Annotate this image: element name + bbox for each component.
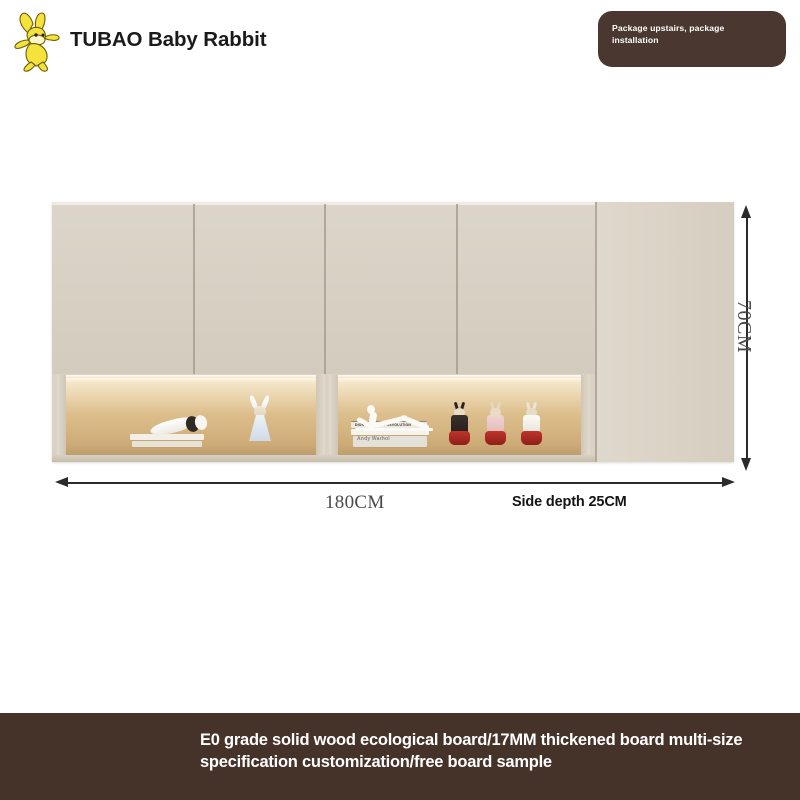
bunny-base	[485, 431, 506, 445]
bunny-base	[521, 431, 542, 445]
book-item: Andy Warhol	[353, 436, 427, 447]
led-strip-icon	[333, 375, 586, 382]
cabinet-door-2	[193, 202, 324, 374]
door-seam-1	[193, 204, 195, 374]
niche-left-wall	[329, 375, 338, 455]
led-strip-icon	[61, 375, 321, 382]
cabinet-door-3	[324, 202, 456, 374]
depth-dimension-label: Side depth 25CM	[512, 494, 627, 510]
width-arrow-right	[722, 477, 735, 487]
cabinet-side-panel	[595, 202, 734, 462]
modern-art-object	[150, 413, 216, 435]
width-dimension-label: 180CM	[325, 492, 385, 514]
width-dimension-line	[66, 482, 724, 484]
open-shelf-niche-right: DIOR NEW LOOK REVOLUTION Andy Warhol	[329, 375, 590, 455]
niche-right-wall	[316, 375, 325, 455]
book-title: Andy Warhol	[357, 437, 390, 442]
bunny-dress	[249, 415, 271, 441]
reclining-sculpture	[353, 405, 435, 433]
cabinet-body: DIOR NEW LOOK REVOLUTION Andy Warhol	[52, 202, 734, 462]
cabinet-door-4	[456, 202, 595, 374]
height-arrow-bottom	[741, 458, 751, 471]
bunny-girl-figurine	[249, 395, 271, 441]
niche-left-wall	[57, 375, 66, 455]
door-seam-2	[324, 204, 326, 374]
niche-right-wall	[581, 375, 590, 455]
bunny-base	[449, 431, 470, 445]
footer-description: E0 grade solid wood ecological board/17M…	[200, 730, 760, 774]
height-dimension-label: 70CM	[732, 300, 755, 353]
book-stack-left	[130, 433, 204, 447]
open-shelf-niche-left	[57, 375, 325, 455]
door-seam-3	[456, 204, 458, 374]
book-item	[132, 441, 202, 447]
footer-banner: E0 grade solid wood ecological board/17M…	[0, 713, 800, 800]
cabinet-door-1	[52, 202, 193, 374]
side-panel-edge	[595, 202, 597, 462]
product-illustration: DIOR NEW LOOK REVOLUTION Andy Warhol	[0, 0, 800, 540]
sculpture-base	[355, 428, 433, 431]
